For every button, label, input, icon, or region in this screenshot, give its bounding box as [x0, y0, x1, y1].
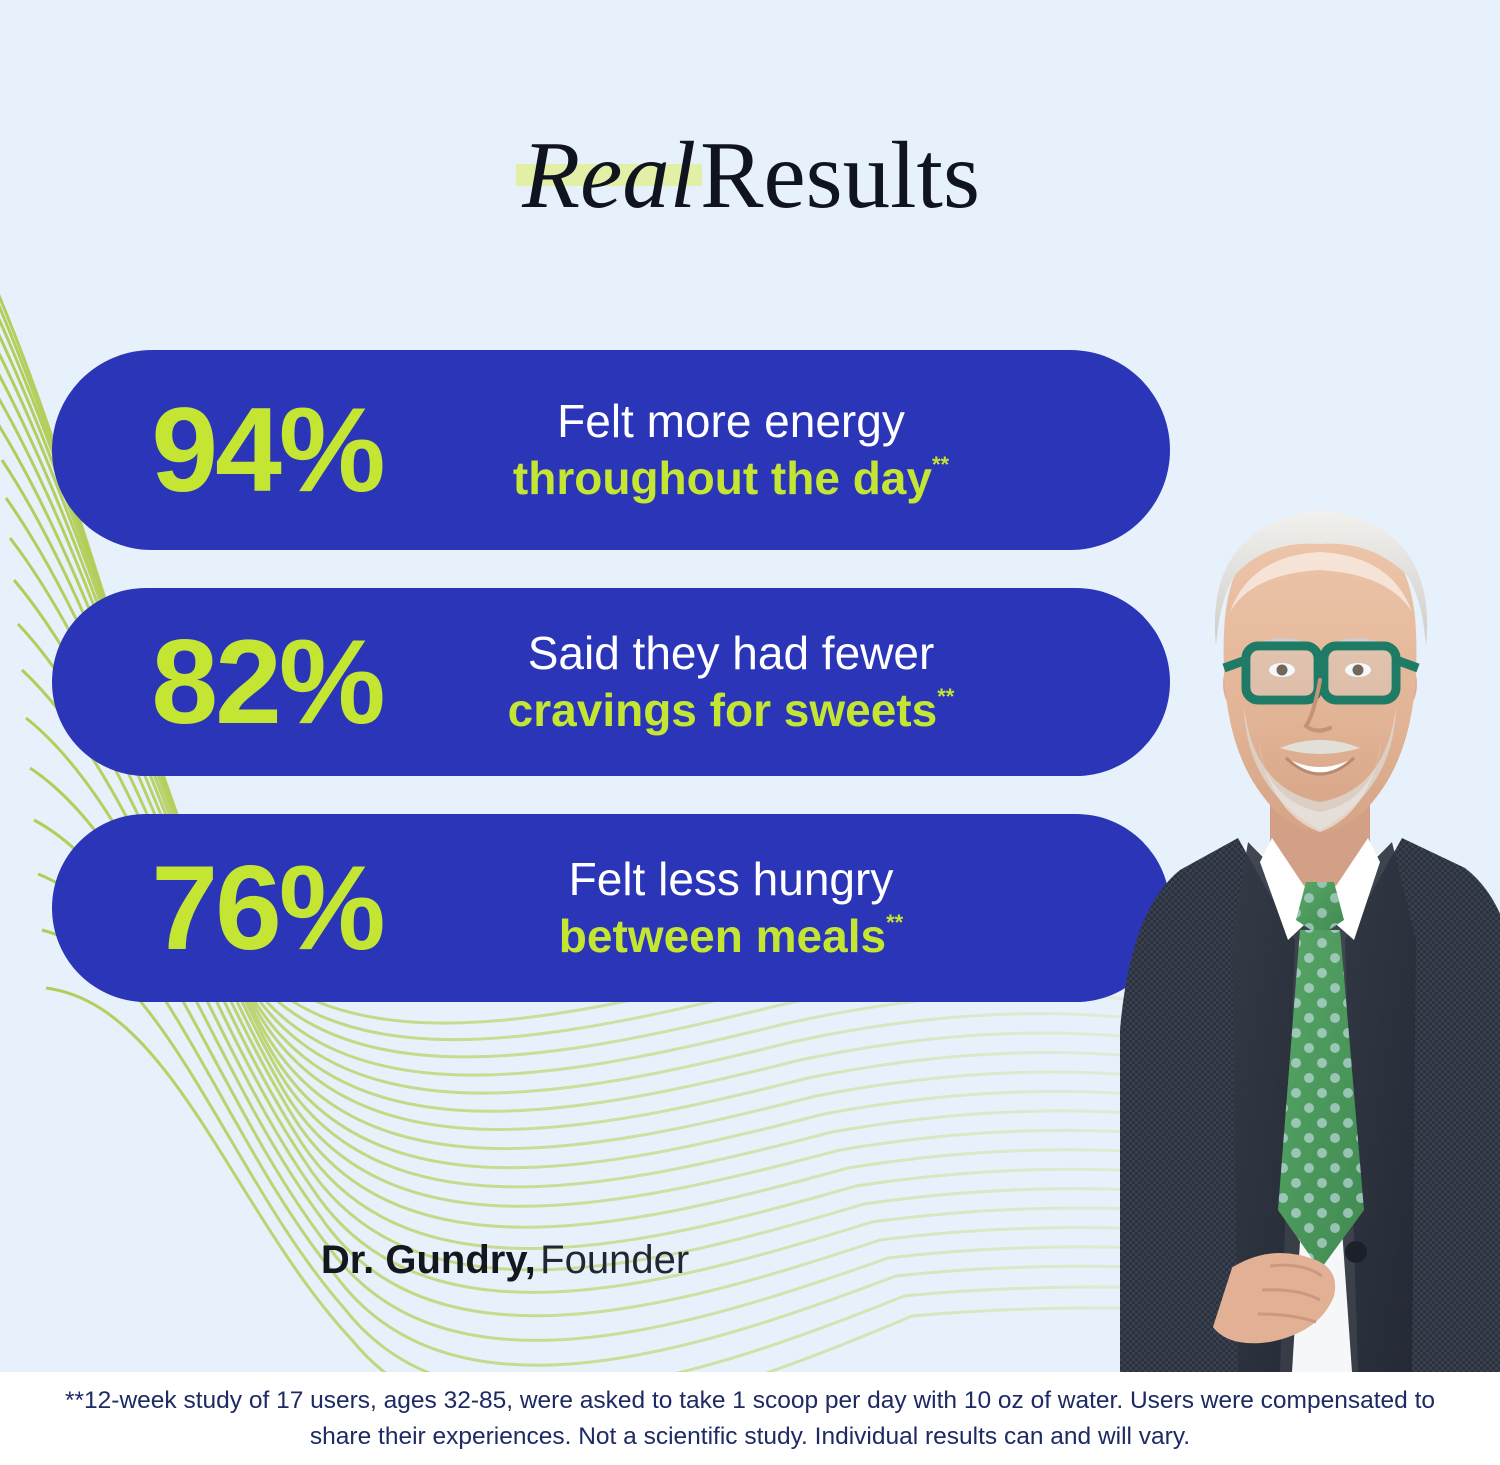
- main-panel: RealResults 94% Felt more energy through…: [0, 0, 1500, 1372]
- stat-line-1: Felt less hungry: [442, 853, 1020, 906]
- disclaimer-text: **12-week study of 17 users, ages 32-85,…: [50, 1383, 1450, 1454]
- stat-line-1: Said they had fewer: [442, 627, 1020, 680]
- stat-percent: 82%: [52, 622, 442, 742]
- stat-percent: 94%: [52, 390, 442, 510]
- stat-text-block: Felt less hungry between meals**: [442, 853, 1170, 963]
- stat-line-2: throughout the day**: [442, 452, 1020, 505]
- stat-line-2: cravings for sweets**: [442, 684, 1020, 737]
- stat-line-2-text: throughout the day: [513, 452, 932, 504]
- stat-pill: 76% Felt less hungry between meals**: [52, 814, 1170, 1002]
- marketing-graphic: RealResults 94% Felt more energy through…: [0, 0, 1500, 1465]
- founder-name: Dr. Gundry,: [321, 1238, 536, 1282]
- footnote-marker: **: [937, 684, 954, 709]
- title-highlight-word: Real: [520, 128, 700, 223]
- founder-portrait: [1120, 470, 1500, 1372]
- stat-line-2-text: between meals: [559, 910, 886, 962]
- stat-line-2-text: cravings for sweets: [508, 684, 938, 736]
- stat-line-1: Felt more energy: [442, 395, 1020, 448]
- stat-text-block: Said they had fewer cravings for sweets*…: [442, 627, 1170, 737]
- footer-disclaimer-bar: **12-week study of 17 users, ages 32-85,…: [0, 1372, 1500, 1465]
- founder-role: Founder: [540, 1238, 689, 1282]
- stat-line-2: between meals**: [442, 910, 1020, 963]
- title-rest-word: Results: [700, 122, 980, 228]
- founder-caption: Dr. Gundry, Founder: [0, 1238, 1010, 1283]
- footnote-marker: **: [886, 910, 903, 935]
- footnote-marker: **: [932, 452, 949, 477]
- stat-percent: 76%: [52, 848, 442, 968]
- stat-pill: 82% Said they had fewer cravings for swe…: [52, 588, 1170, 776]
- stat-pill: 94% Felt more energy throughout the day*…: [52, 350, 1170, 550]
- stat-text-block: Felt more energy throughout the day**: [442, 395, 1170, 505]
- page-title: RealResults: [0, 128, 1500, 223]
